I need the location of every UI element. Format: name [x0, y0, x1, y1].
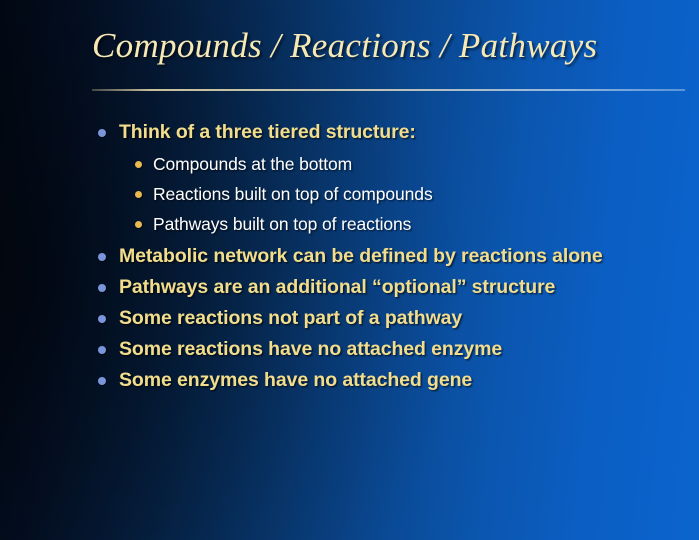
slide-content: Compounds / Reactions / Pathways Think o…: [0, 0, 699, 540]
bullet-dot-icon: [98, 346, 106, 354]
bullet-text: Some enzymes have no attached gene: [119, 369, 472, 391]
bullet-item-level1: Pathways are an additional “optional” st…: [96, 275, 676, 300]
slide-title: Compounds / Reactions / Pathways: [92, 24, 672, 68]
bullet-text: Metabolic network can be defined by reac…: [119, 245, 603, 267]
bullet-text: Some reactions not part of a pathway: [119, 307, 462, 329]
bullet-text: Pathways are an additional “optional” st…: [119, 276, 555, 298]
sub-bullet-dot-icon: [135, 221, 142, 228]
bullet-dot-icon: [98, 253, 106, 261]
presentation-slide: Compounds / Reactions / Pathways Think o…: [0, 0, 699, 540]
bullet-text: Some reactions have no attached enzyme: [119, 338, 502, 360]
bullet-item-level2: Pathways built on top of reactions: [96, 213, 676, 236]
bullet-text: Pathways built on top of reactions: [153, 214, 411, 234]
bullet-item-level1: Metabolic network can be defined by reac…: [96, 244, 676, 269]
bullet-item-level1: Some reactions have no attached enzyme: [96, 337, 676, 362]
bullet-item-level2: Compounds at the bottom: [96, 153, 676, 176]
bullet-dot-icon: [98, 284, 106, 292]
sub-bullet-list: Compounds at the bottom Reactions built …: [96, 153, 676, 236]
bullet-item-level1: Some reactions not part of a pathway: [96, 306, 676, 331]
sub-bullet-dot-icon: [135, 191, 142, 198]
bullet-dot-icon: [98, 129, 106, 137]
bullet-text: Think of a three tiered structure:: [119, 121, 416, 143]
bullet-item-level1: Some enzymes have no attached gene: [96, 368, 676, 393]
bullet-list: Think of a three tiered structure: Compo…: [96, 120, 676, 399]
bullet-text: Compounds at the bottom: [153, 154, 352, 174]
bullet-dot-icon: [98, 377, 106, 385]
title-divider-rule: [92, 89, 685, 91]
sub-bullet-dot-icon: [135, 161, 142, 168]
bullet-text: Reactions built on top of compounds: [153, 184, 433, 204]
bullet-item-level1: Think of a three tiered structure:: [96, 120, 676, 145]
bullet-item-level2: Reactions built on top of compounds: [96, 183, 676, 206]
bullet-dot-icon: [98, 315, 106, 323]
